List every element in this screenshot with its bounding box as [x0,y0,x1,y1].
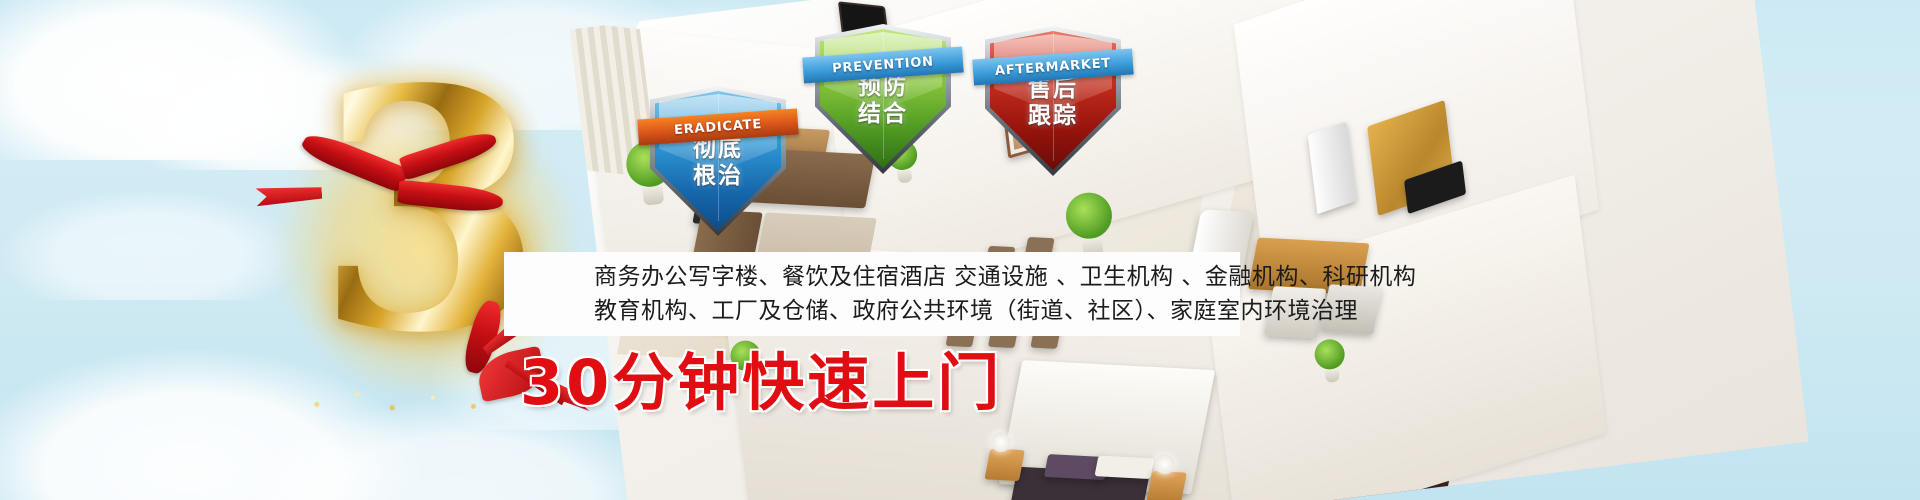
shield-label-cn: 预防 结合 [815,74,951,128]
service-scope-line-2: 教育机构、工厂及仓储、政府公共环境（街道、社区）、家庭室内环境治理 [594,294,1240,328]
cloud-decoration [0,190,300,300]
shield-label-cn: 售后 跟踪 [985,76,1121,130]
shield-sash-label: AFTERMARKET [994,55,1111,78]
shield-label-cn: 彻底 根治 [650,136,786,190]
potted-plant [1313,338,1348,384]
nightstand [984,448,1024,481]
shield-badge-eradicate[interactable]: 彻底 根治 ERADICATE [650,86,786,236]
shield-sash-label: PREVENTION [832,54,935,76]
shield-label-cn-line2: 结合 [815,101,951,128]
potted-plant [1063,190,1116,259]
nightstand [1146,471,1186,500]
shield-sash-label: ERADICATE [674,116,763,137]
promo-banner: 3 彻底 根治 ERADICATE 预防 结合 PREVENTION [0,0,1920,500]
shield-label-cn-line2: 跟踪 [985,103,1121,130]
apartment-3d-render [569,0,1808,500]
service-scope-line-1: 商务办公写字楼、餐饮及住宿酒店 交通设施 、卫生机构 、金融机构、科研机构 [594,260,1240,294]
shield-badge-aftermarket[interactable]: 售后 跟踪 AFTERMARKET [985,26,1121,176]
shield-badge-prevention[interactable]: 预防 结合 PREVENTION [815,24,951,174]
pillow [1094,455,1154,479]
page-headline: 30分钟快速上门 [520,352,1002,414]
shield-label-cn-line2: 根治 [650,163,786,190]
service-scope-panel: 商务办公写字楼、餐饮及住宿酒店 交通设施 、卫生机构 、金融机构、科研机构 教育… [504,252,1240,336]
